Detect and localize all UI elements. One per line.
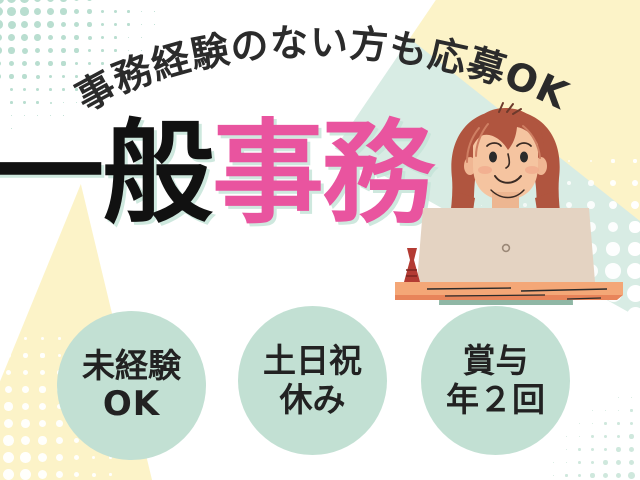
badge-line: 年２回 — [446, 381, 545, 419]
illustration-woman-at-laptop — [395, 100, 640, 305]
badge-bonus-twice-a-year[interactable]: 賞与 年２回 — [421, 306, 570, 455]
badge-line: OK — [103, 385, 160, 424]
eye-right — [520, 152, 528, 163]
desk-line-1 — [427, 288, 511, 289]
badge-line: 未経験 — [82, 347, 181, 385]
title-part-black: 一般 — [0, 109, 212, 239]
eye-left — [489, 152, 497, 163]
badge-no-experience[interactable]: 未経験 OK — [57, 311, 206, 460]
badge-line: 休み — [280, 381, 346, 419]
badge-weekend-holiday-off[interactable]: 土日祝 休み — [238, 306, 387, 455]
badge-line: 賞与 — [463, 342, 529, 380]
page-title: 一般事務 — [0, 118, 432, 230]
blush-left — [478, 166, 492, 174]
badge-line: 土日祝 — [263, 342, 362, 380]
blush-right — [525, 166, 539, 174]
vase-shape — [404, 248, 420, 282]
poster-canvas: 事務経験のない方も応募OK 一般事務 — [0, 0, 640, 480]
